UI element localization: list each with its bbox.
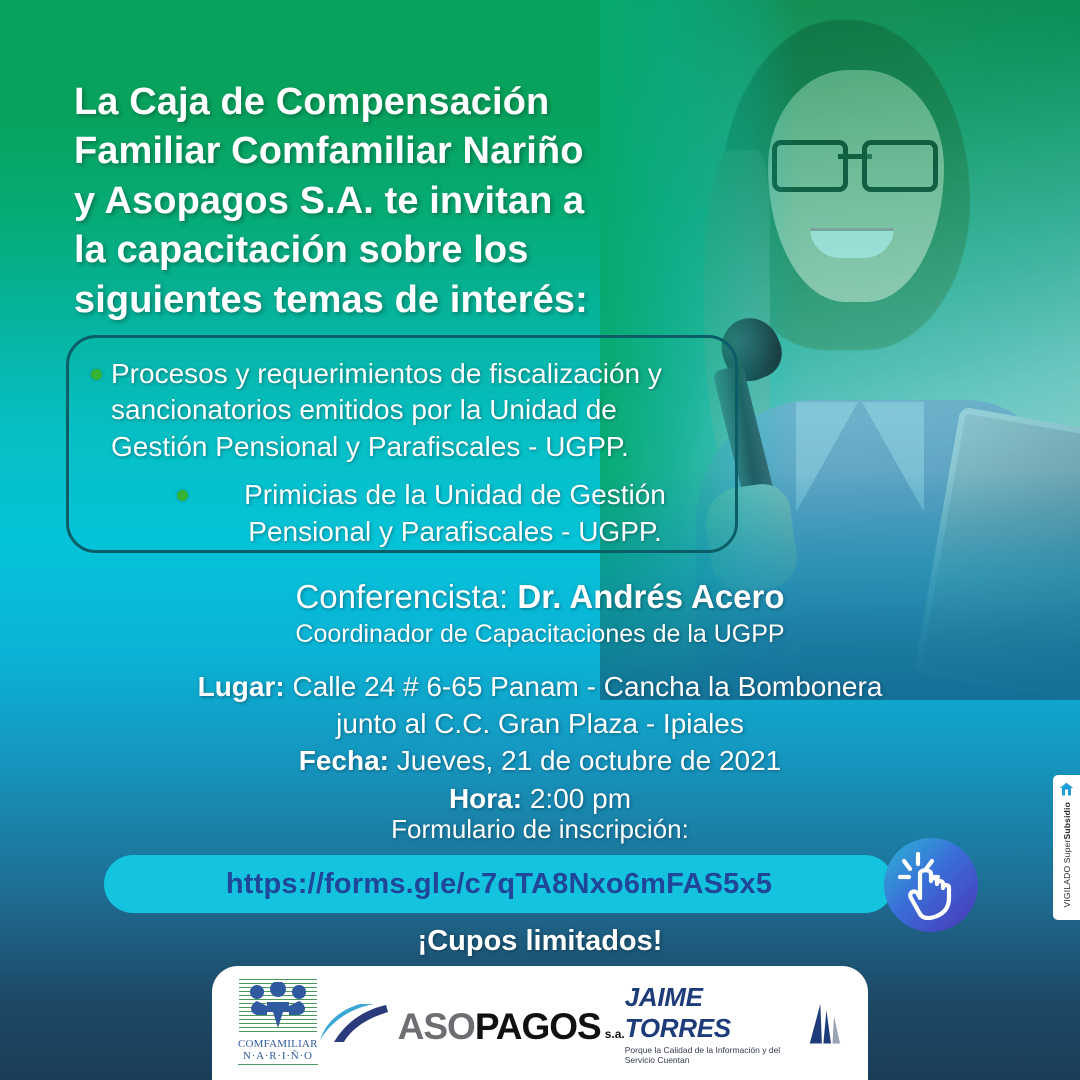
- headline-line-4: la capacitación sobre los: [74, 226, 694, 275]
- speaker-block: Conferencista: Dr. Andrés Acero Coordina…: [0, 578, 1080, 649]
- house-shield-icon: [1059, 782, 1074, 797]
- time-value: 2:00 pm: [530, 783, 631, 814]
- speaker-name: Dr. Andrés Acero: [517, 578, 784, 615]
- vigilado-supersubsidio-badge: VIGILADO SuperSubsidio: [1053, 775, 1080, 920]
- headline-line-3: y Asopagos S.A. te invitan a: [74, 177, 694, 226]
- vigilado-label: VIGILADO SuperSubsidio: [1062, 802, 1072, 908]
- place-value-line2: junto al C.C. Gran Plaza - Ipiales: [0, 705, 1080, 742]
- registration-url-text: https://forms.gle/c7qTA8Nxo6mFAS5x5: [226, 868, 772, 901]
- place-label: Lugar:: [198, 671, 285, 702]
- vigilado-prefix: VIGILADO Super: [1062, 840, 1072, 908]
- registration-url-button[interactable]: https://forms.gle/c7qTA8Nxo6mFAS5x5: [104, 855, 894, 913]
- topic-item: Primicias de la Unidad de Gestión Pensio…: [91, 477, 713, 550]
- headline: La Caja de Compensación Familiar Comfami…: [74, 78, 694, 325]
- comfamiliar-mark-icon: [239, 979, 317, 1035]
- speaker-role: Coordinador de Capacitaciones de la UGPP: [0, 620, 1080, 649]
- pointing-hand-icon: [898, 850, 964, 920]
- speaker-line: Conferencista: Dr. Andrés Acero: [0, 578, 1080, 616]
- headline-line-1: La Caja de Compensación: [74, 78, 694, 127]
- jaime-torres-name: JAIME TORRES: [625, 982, 794, 1044]
- event-details: Lugar: Calle 24 # 6-65 Panam - Cancha la…: [0, 668, 1080, 817]
- place-value-line1: Calle 24 # 6-65 Panam - Cancha la Bombon…: [292, 671, 882, 702]
- click-here-button[interactable]: [884, 838, 978, 932]
- comfamiliar-name-line2: N·A·R·I·Ñ·O: [238, 1050, 318, 1062]
- asopagos-word-part1: ASO: [398, 1006, 475, 1047]
- jaime-torres-tagline: Porque la Calidad de la Información y de…: [625, 1045, 794, 1065]
- logo-comfamiliar-narino: COMFAMILIAR N·A·R·I·Ñ·O: [238, 979, 318, 1067]
- logo-jaime-torres: JAIME TORRES Porque la Calidad de la Inf…: [625, 982, 842, 1065]
- promotional-poster: La Caja de Compensación Familiar Comfami…: [0, 0, 1080, 1080]
- comfamiliar-rule: [238, 1064, 318, 1067]
- limited-seats-text: ¡Cupos limitados!: [0, 925, 1080, 958]
- place-row: Lugar: Calle 24 # 6-65 Panam - Cancha la…: [0, 668, 1080, 705]
- asopagos-word-part2: PAGOS: [475, 1006, 601, 1047]
- topics-box: Procesos y requerimientos de fiscalizaci…: [66, 335, 738, 553]
- asopagos-suffix: s.a.: [605, 1027, 625, 1041]
- time-label: Hora:: [449, 783, 522, 814]
- asopagos-wordmark: ASOPAGOS: [398, 1009, 601, 1044]
- logo-asopagos: ASOPAGOS s.a.: [318, 1002, 625, 1044]
- date-label: Fecha:: [299, 745, 389, 776]
- topic-text: Primicias de la Unidad de Gestión Pensio…: [197, 477, 713, 550]
- jaime-torres-sails-icon: [787, 992, 842, 1054]
- asopagos-swoosh-icon: [318, 1002, 392, 1044]
- headline-line-2: Familiar Comfamiliar Nariño: [74, 127, 694, 176]
- vigilado-suffix: Subsidio: [1062, 802, 1072, 840]
- topic-text: Procesos y requerimientos de fiscalizaci…: [111, 356, 713, 465]
- date-row: Fecha: Jueves, 21 de octubre de 2021: [0, 742, 1080, 779]
- footer-logo-bar: COMFAMILIAR N·A·R·I·Ñ·O ASOPAGOS s.a. JA…: [212, 966, 868, 1080]
- date-value: Jueves, 21 de octubre de 2021: [397, 745, 782, 776]
- time-row: Hora: 2:00 pm: [0, 780, 1080, 817]
- topic-item: Procesos y requerimientos de fiscalizaci…: [91, 356, 713, 465]
- bullet-dot-icon: [91, 369, 102, 380]
- comfamiliar-name-line1: COMFAMILIAR: [238, 1038, 318, 1050]
- speaker-label: Conferencista:: [295, 578, 508, 615]
- headline-line-5: siguientes temas de interés:: [74, 276, 694, 325]
- bullet-dot-icon: [177, 490, 188, 501]
